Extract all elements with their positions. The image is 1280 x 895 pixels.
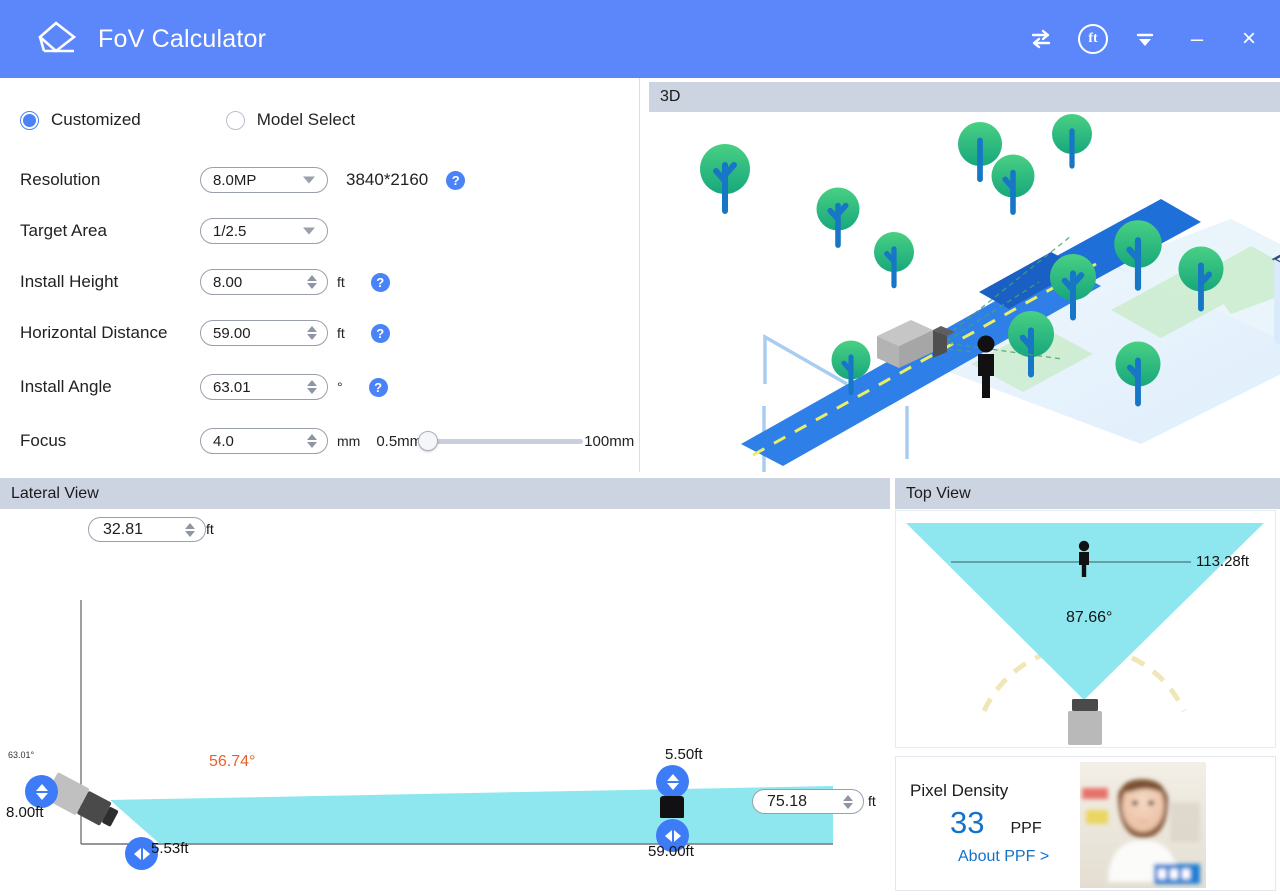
camera-top	[1068, 699, 1102, 745]
radio-customized[interactable]: Customized	[20, 110, 141, 130]
pixel-density-value-row: 33 PPF	[910, 805, 1080, 841]
minimize-button[interactable]: –	[1182, 24, 1212, 54]
near-distance-label: 5.53ft	[151, 840, 189, 857]
focus-slider-knob[interactable]	[418, 431, 438, 451]
target-area-label: Target Area	[20, 221, 200, 241]
camera-height-label: 8.00ft	[6, 804, 44, 821]
stepper-arrows-icon[interactable]	[307, 275, 317, 289]
fov-calculator-window: FoV Calculator ft – × C	[0, 0, 1280, 895]
app-logo-icon	[32, 15, 80, 63]
radio-model-select[interactable]: Model Select	[226, 110, 355, 130]
field-target-area: Target Area 1/2.5	[20, 216, 328, 246]
focus-stepper[interactable]: 4.0	[200, 428, 328, 454]
resolution-label: Resolution	[20, 170, 200, 190]
lateral-height-value: 32.81	[103, 521, 143, 539]
focus-slider-min-label: 0.5mm	[376, 433, 422, 450]
lateral-fov-wedge	[110, 786, 833, 844]
pixel-density-value: 33	[950, 805, 984, 841]
parameters-panel: Customized Model Select Resolution 8.0MP…	[0, 78, 640, 472]
lateral-height-input[interactable]: 32.81	[88, 517, 206, 542]
app-title: FoV Calculator	[98, 25, 266, 54]
close-button[interactable]: ×	[1234, 24, 1264, 54]
top-view-header: Top View	[895, 478, 1280, 509]
install-angle-help-icon[interactable]: ?	[369, 378, 388, 397]
top-view-canvas[interactable]: 113.28ft 87.66°	[895, 510, 1276, 748]
target-area-dropdown[interactable]: 1/2.5	[200, 218, 328, 244]
focus-slider[interactable]	[423, 439, 583, 444]
reference-photo	[1080, 762, 1206, 888]
install-angle-unit: °	[337, 379, 343, 395]
horizontal-distance-label: Horizontal Distance	[20, 323, 200, 343]
pixel-density-panel: Pixel Density 33 PPF About PPF >	[895, 756, 1276, 891]
horizontal-distance-value: 59.00	[213, 325, 251, 342]
scene-3d-illustration[interactable]	[641, 114, 1280, 472]
install-angle-label: Install Angle	[20, 377, 200, 397]
menu-chevron-down-icon[interactable]	[1130, 24, 1160, 54]
field-focus: Focus 4.0 mm 0.5mm 100mm	[20, 426, 634, 456]
focus-slider-group: 0.5mm 100mm	[376, 433, 634, 450]
lateral-height-unit: ft	[206, 521, 214, 537]
lateral-view-panel: Lateral View	[0, 472, 890, 895]
install-height-stepper[interactable]: 8.00	[200, 269, 328, 295]
field-resolution: Resolution 8.0MP 3840*2160 ?	[20, 165, 465, 195]
lateral-view-canvas[interactable]: 32.81 ft 63.01° 8.00ft 5.53ft 56.74° 5.5…	[0, 510, 890, 895]
focus-label: Focus	[20, 431, 200, 451]
target-height-label: 5.50ft	[665, 746, 703, 763]
lateral-distance-input[interactable]: 75.18	[752, 789, 864, 814]
pixel-density-unit: PPF	[1010, 820, 1041, 838]
scene-3d-header: 3D	[649, 82, 1280, 112]
install-height-unit: ft	[337, 274, 345, 290]
resolution-value: 8.0MP	[213, 172, 256, 189]
lateral-install-angle-label: 63.01°	[8, 750, 34, 760]
pedestrian-3d	[978, 336, 995, 399]
field-install-angle: Install Angle 63.01 ° ?	[20, 372, 388, 402]
install-angle-value: 63.01	[213, 379, 251, 396]
horizontal-distance-unit: ft	[337, 325, 345, 341]
install-height-label: Install Height	[20, 272, 200, 292]
horizontal-distance-help-icon[interactable]: ?	[371, 324, 390, 343]
resolution-help-icon[interactable]: ?	[446, 171, 465, 190]
target-distance-label: 59.00ft	[648, 843, 694, 860]
stepper-arrows-icon[interactable]	[185, 523, 195, 537]
pixel-density-info: Pixel Density 33 PPF About PPF >	[910, 781, 1080, 866]
install-height-value: 8.00	[213, 274, 242, 291]
install-height-help-icon[interactable]: ?	[371, 273, 390, 292]
chevron-down-icon	[303, 228, 315, 235]
window-controls: ft – ×	[1026, 0, 1264, 78]
focus-slider-max-label: 100mm	[584, 433, 634, 450]
stepper-arrows-icon[interactable]	[307, 434, 317, 448]
vertical-fov-angle-label: 56.74°	[209, 753, 255, 771]
lateral-view-header: Lateral View	[0, 478, 890, 509]
horizontal-distance-stepper[interactable]: 59.00	[200, 320, 328, 346]
buildings-cluster	[1274, 146, 1280, 472]
mode-radio-group: Customized Model Select	[20, 110, 355, 130]
top-view-width-label: 113.28ft	[1196, 553, 1249, 570]
radio-model-select-label: Model Select	[257, 110, 355, 130]
install-angle-stepper[interactable]: 63.01	[200, 374, 328, 400]
chevron-down-icon	[303, 177, 315, 184]
target-area-value: 1/2.5	[213, 223, 246, 240]
top-view-panel: Top View 113.28ft	[891, 472, 1280, 752]
target-person-lateral	[660, 796, 684, 818]
about-ppf-link[interactable]: About PPF >	[910, 848, 1080, 866]
unit-ft-badge[interactable]: ft	[1078, 24, 1108, 54]
camera-lateral	[44, 772, 122, 832]
stepper-arrows-icon[interactable]	[843, 795, 853, 809]
field-install-height: Install Height 8.00 ft ?	[20, 267, 390, 297]
radio-model-select-dot	[226, 111, 245, 130]
lateral-distance-value: 75.18	[767, 793, 807, 811]
stepper-arrows-icon[interactable]	[307, 380, 317, 394]
swap-units-icon[interactable]	[1026, 24, 1056, 54]
resolution-detail: 3840*2160	[346, 170, 428, 190]
radio-customized-dot	[20, 111, 39, 130]
focus-unit: mm	[337, 433, 360, 449]
field-horizontal-distance: Horizontal Distance 59.00 ft ?	[20, 318, 390, 348]
top-view-fov-angle-label: 87.66°	[1066, 609, 1112, 627]
focus-value: 4.0	[213, 433, 234, 450]
radio-customized-label: Customized	[51, 110, 141, 130]
title-bar: FoV Calculator ft – ×	[0, 0, 1280, 78]
pixel-density-title: Pixel Density	[910, 781, 1080, 801]
target-height-drag-handle[interactable]	[656, 765, 689, 798]
stepper-arrows-icon[interactable]	[307, 326, 317, 340]
lateral-distance-unit: ft	[868, 793, 876, 809]
resolution-dropdown[interactable]: 8.0MP	[200, 167, 328, 193]
scene-3d-panel: 3D	[641, 78, 1280, 472]
